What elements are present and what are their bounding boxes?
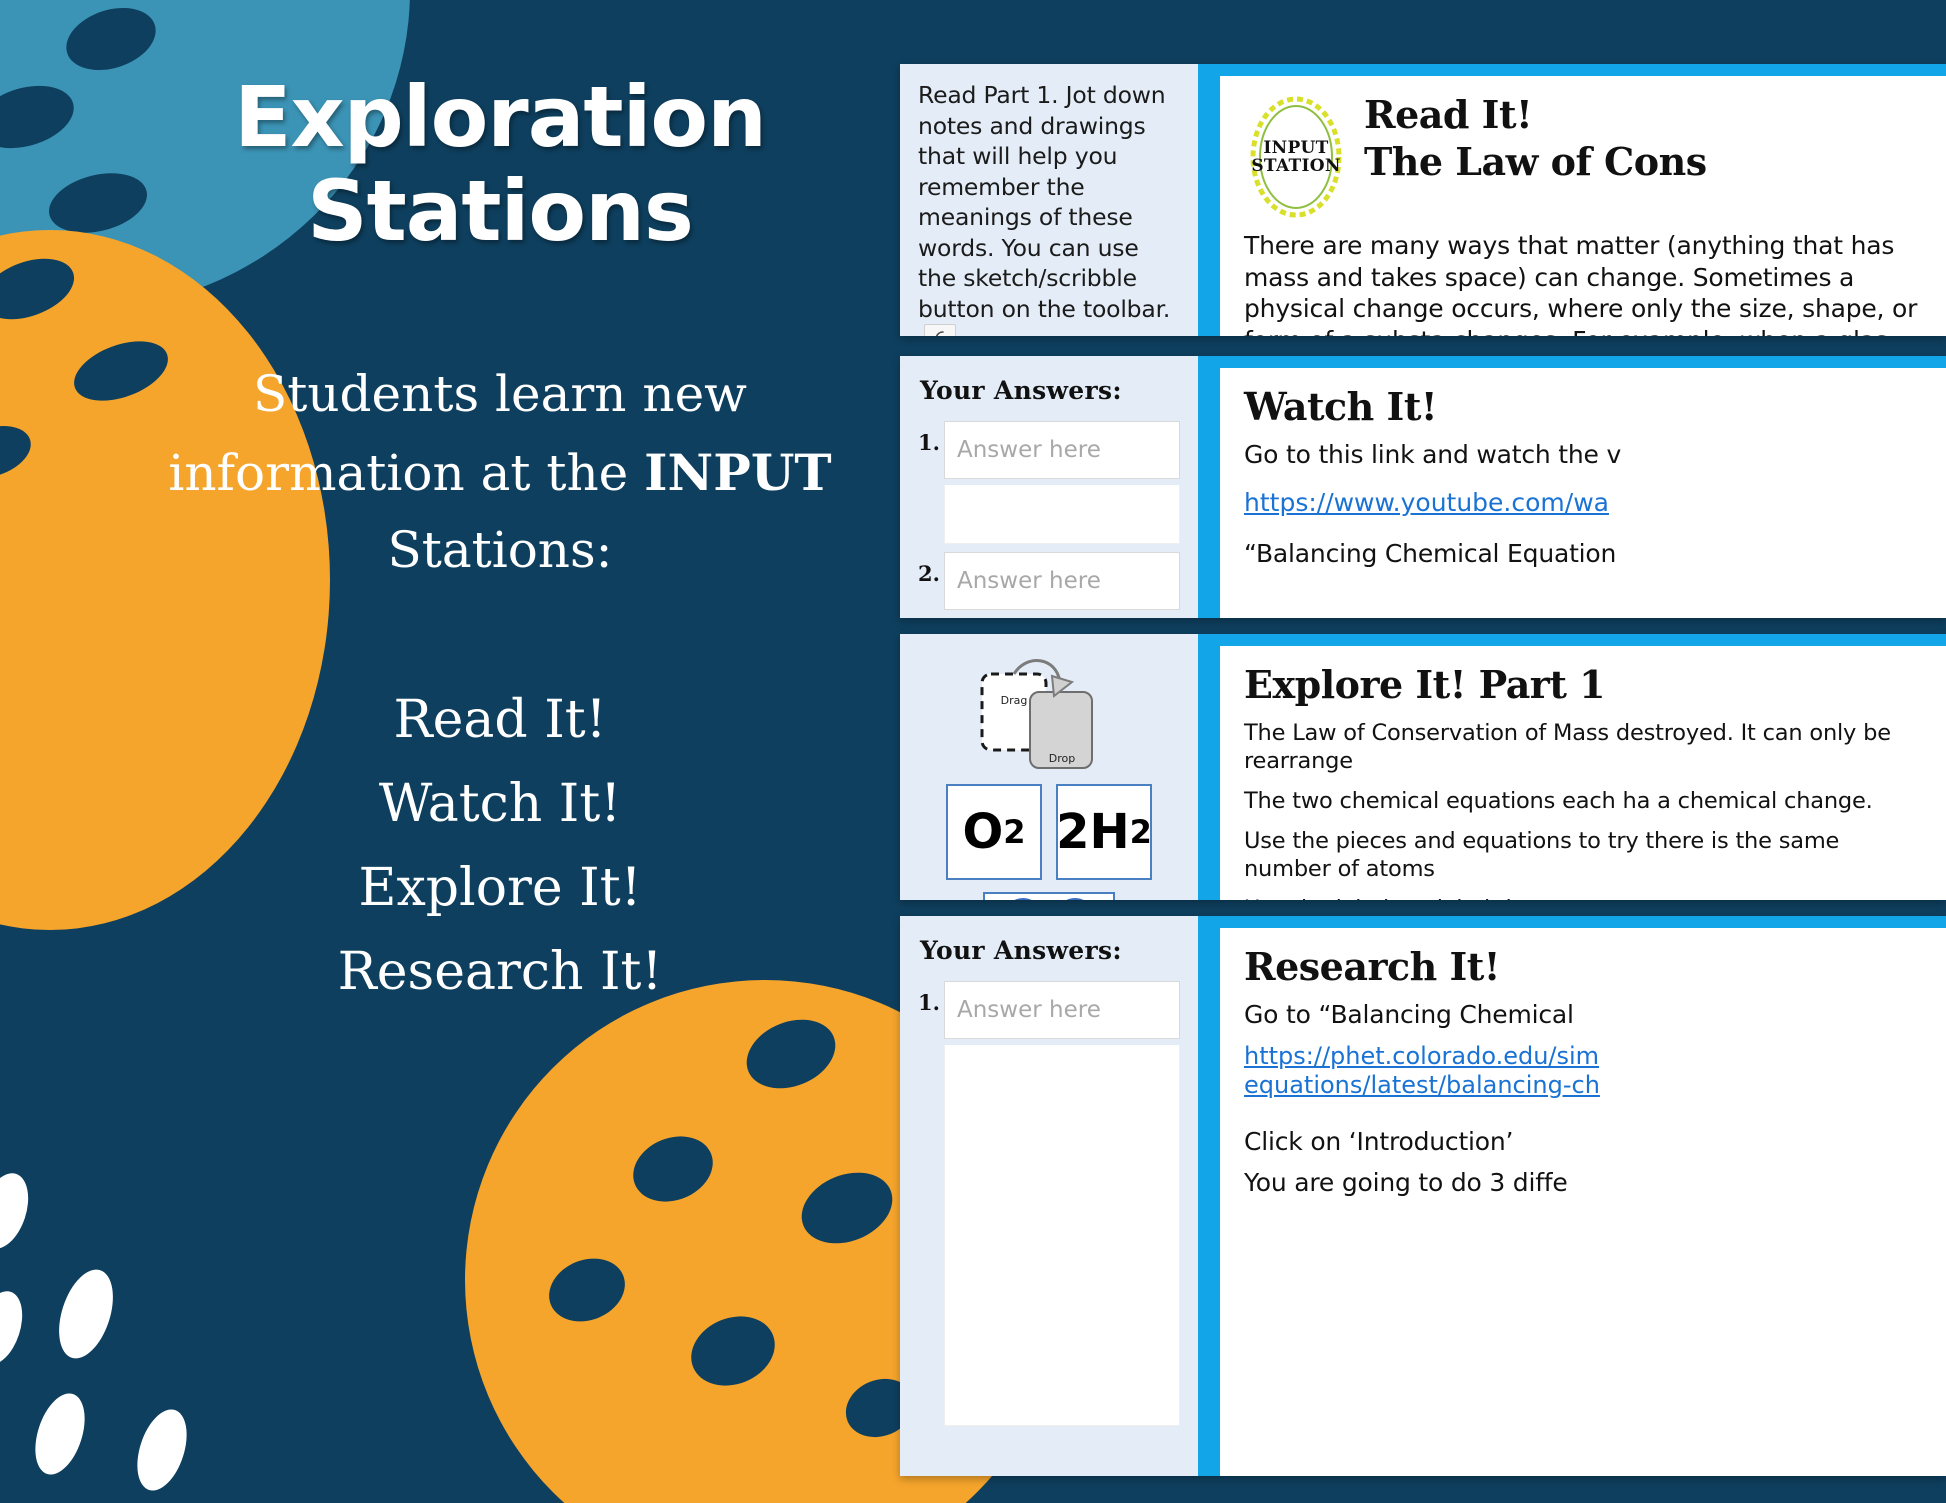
watch-card-accent-bar [1198, 356, 1210, 618]
answer-input-1-overflow [944, 1045, 1180, 1426]
teal-blob-dot [0, 189, 4, 244]
svg-text:Drop: Drop [1049, 752, 1075, 765]
white-dot [26, 1387, 94, 1480]
chemical-tile-row: O2 2H2 [918, 784, 1180, 880]
station-item-explore: Explore It! [338, 846, 663, 930]
intro-bold-input: INPUT [644, 443, 832, 502]
molecule-atom [997, 898, 1049, 900]
title-line-2: Stations [234, 164, 766, 258]
read-card-heading-1: Read It! [1364, 94, 1707, 137]
chem-tile-o2[interactable]: O2 [946, 784, 1042, 880]
svg-text:Drag: Drag [1001, 694, 1028, 707]
read-card-body: There are many ways that matter (anythin… [1244, 230, 1926, 336]
card-read-it[interactable]: Read Part 1. Jot down notes and drawings… [900, 64, 1946, 336]
slide-canvas: Exploration Stations Students learn new … [0, 0, 1946, 1503]
research-card-accent-bar [1198, 916, 1210, 1476]
research-line-1: Go to “Balancing Chemical [1244, 999, 1926, 1031]
orange-blob-dot [0, 247, 82, 331]
read-card-heading-2: The Law of Cons [1364, 141, 1707, 184]
phet-link-line-1: https://phet.colorado.edu/sim [1244, 1042, 1599, 1070]
research-line-2: Click on ‘Introduction’ [1244, 1126, 1926, 1158]
input-station-badge-icon: INPUT STATION [1244, 94, 1348, 220]
page-title: Exploration Stations [234, 70, 766, 258]
read-instructions: Read Part 1. Jot down notes and drawings… [918, 80, 1180, 336]
orange-blob-dot [0, 417, 37, 487]
explore-paragraph-4: Use the labels to label the reactants [1244, 895, 1926, 900]
white-dot [0, 1285, 31, 1370]
station-list: Read It! Watch It! Explore It! Research … [338, 678, 663, 1015]
station-item-research: Research It! [338, 930, 663, 1014]
explore-paragraph-1: The Law of Conservation of Mass destroye… [1244, 719, 1926, 775]
read-card-right-pane: INPUT STATION Read It! The Law of Cons T… [1210, 64, 1946, 336]
watch-card-quote: “Balancing Chemical Equation [1244, 538, 1926, 570]
station-item-read: Read It! [338, 678, 663, 762]
intro-text-after: Stations: [387, 521, 612, 579]
left-text-column: Exploration Stations Students learn new … [120, 0, 880, 1503]
scribble-icon[interactable] [924, 324, 956, 336]
white-dot [49, 1263, 123, 1365]
read-card-left-pane: Read Part 1. Jot down notes and drawings… [900, 64, 1198, 336]
station-item-watch: Watch It! [338, 762, 663, 846]
read-card-accent-bar [1198, 64, 1210, 336]
answer-input-1[interactable]: Answer here [944, 421, 1180, 479]
answer-row[interactable]: 1. Answer here [918, 981, 1180, 1039]
research-card-right-pane: Research It! Go to “Balancing Chemical h… [1210, 916, 1946, 1476]
phet-link-line-2: equations/latest/balancing-ch [1244, 1071, 1600, 1099]
watch-card-heading: Watch It! [1244, 386, 1926, 429]
watch-answers-label: Your Answers: [920, 376, 1180, 405]
card-research-it[interactable]: Your Answers: 1. Answer here Research It… [900, 916, 1946, 1476]
molecule-atom [1049, 898, 1101, 900]
answer-row[interactable]: 1. Answer here [918, 421, 1180, 479]
youtube-link[interactable]: https://www.youtube.com/wa [1244, 488, 1926, 518]
station-card-stack: Read Part 1. Jot down notes and drawings… [900, 0, 1946, 1503]
answer-number: 2. [918, 552, 944, 586]
read-card-header: INPUT STATION Read It! The Law of Cons [1244, 94, 1926, 220]
drag-drop-icon: Drag Drop [974, 656, 1124, 774]
watch-card-right-pane: Watch It! Go to this link and watch the … [1210, 356, 1946, 618]
explore-paragraph-3: Use the pieces and equations to try ther… [1244, 827, 1926, 883]
answer-input-2[interactable]: Answer here [944, 552, 1180, 610]
read-instructions-text: Read Part 1. Jot down notes and drawings… [918, 81, 1170, 323]
watch-card-left-pane: Your Answers: 1. Answer here 2. Answer h… [900, 356, 1198, 618]
research-card-heading: Research It! [1244, 946, 1926, 989]
research-line-3: You are going to do 3 diffe [1244, 1167, 1926, 1199]
answer-input-1[interactable]: Answer here [944, 981, 1180, 1039]
explore-card-left-pane: Drag Drop O2 2H2 [900, 634, 1198, 900]
badge-text: INPUT STATION [1244, 140, 1348, 176]
explore-card-heading: Explore It! Part 1 [1244, 664, 1926, 707]
read-card-titles: Read It! The Law of Cons [1364, 94, 1707, 187]
research-card-left-pane: Your Answers: 1. Answer here [900, 916, 1198, 1476]
explore-card-right-pane: Explore It! Part 1 The Law of Conservati… [1210, 634, 1946, 900]
answer-row[interactable]: 2. Answer here [918, 552, 1180, 610]
title-line-1: Exploration [234, 70, 766, 164]
badge-line-2: STATION [1251, 156, 1340, 176]
card-watch-it[interactable]: Your Answers: 1. Answer here 2. Answer h… [900, 356, 1946, 618]
explore-paragraph-2: The two chemical equations each ha a che… [1244, 787, 1926, 815]
intro-paragraph: Students learn new information at the IN… [120, 356, 880, 590]
teal-blob-dot [0, 75, 81, 158]
explore-card-accent-bar [1198, 634, 1210, 900]
answer-number: 1. [918, 421, 944, 455]
card-explore-it[interactable]: Drag Drop O2 2H2 Explore It! Part 1 The … [900, 634, 1946, 900]
answer-input-1-overflow [944, 485, 1180, 544]
watch-card-body: Go to this link and watch the v [1244, 439, 1926, 471]
molecule-icon[interactable] [983, 892, 1115, 900]
white-dot [0, 1167, 37, 1255]
phet-link[interactable]: https://phet.colorado.edu/simequations/l… [1244, 1042, 1926, 1100]
chem-tile-2h2[interactable]: 2H2 [1056, 784, 1152, 880]
answer-number: 1. [918, 981, 944, 1015]
research-answers-label: Your Answers: [920, 936, 1180, 965]
